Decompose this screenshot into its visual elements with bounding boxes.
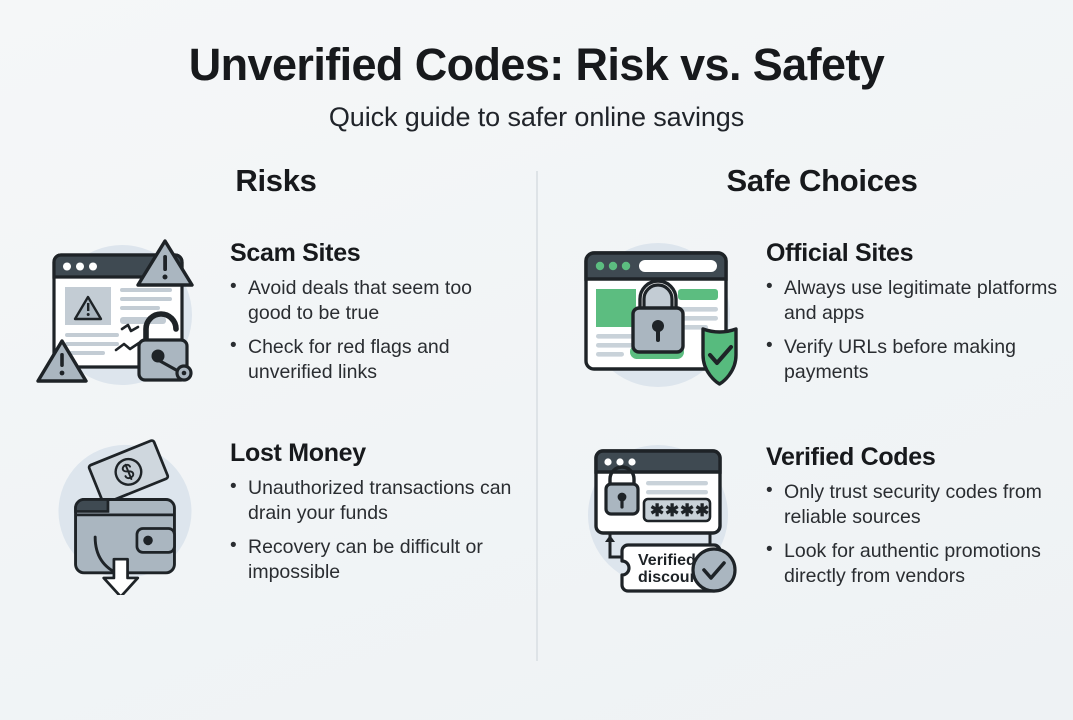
- list-item: Verify URLs before making payments: [766, 335, 1058, 385]
- header: Unverified Codes: Risk vs. Safety Quick …: [0, 0, 1073, 133]
- item-title-scam-sites: Scam Sites: [230, 239, 518, 268]
- list-item: Check for red flags and unverified links: [230, 335, 518, 385]
- column-risks: Risks: [0, 163, 536, 683]
- infographic-page: Unverified Codes: Risk vs. Safety Quick …: [0, 0, 1073, 720]
- item-scam-sites: Scam Sites Avoid deals that seem too goo…: [34, 233, 518, 395]
- list-item: Avoid deals that seem too good to be tru…: [230, 276, 518, 326]
- column-safe-choices: Safe Choices: [536, 163, 1072, 683]
- secure-browser-shield-icon: [570, 233, 752, 395]
- page-title: Unverified Codes: Risk vs. Safety: [0, 40, 1073, 90]
- item-body-scam-sites: Scam Sites Avoid deals that seem too goo…: [230, 233, 518, 394]
- list-item: Look for authentic promotions directly f…: [766, 539, 1058, 589]
- svg-text:✱: ✱: [680, 501, 694, 520]
- list-item: Unauthorized transactions can drain your…: [230, 476, 518, 526]
- columns-container: Risks: [0, 163, 1073, 683]
- item-lost-money: Lost Money Unauthorized transactions can…: [34, 433, 518, 595]
- item-body-verified-codes: Verified Codes Only trust security codes…: [766, 437, 1058, 598]
- list-item: Recovery can be difficult or impossible: [230, 535, 518, 585]
- bullet-list-verified-codes: Only trust security codes from reliable …: [766, 480, 1058, 589]
- column-heading-risks: Risks: [34, 163, 518, 199]
- item-body-official-sites: Official Sites Always use legitimate pla…: [766, 233, 1058, 394]
- item-title-verified-codes: Verified Codes: [766, 443, 1058, 472]
- bullet-list-official-sites: Always use legitimate platforms and apps…: [766, 276, 1058, 385]
- item-title-official-sites: Official Sites: [766, 239, 1058, 268]
- page-subtitle: Quick guide to safer online savings: [0, 102, 1073, 133]
- list-item: Only trust security codes from reliable …: [766, 480, 1058, 530]
- item-body-lost-money: Lost Money Unauthorized transactions can…: [230, 433, 518, 594]
- bullet-list-scam-sites: Avoid deals that seem too good to be tru…: [230, 276, 518, 385]
- scam-site-browser-warning-icon: [34, 233, 216, 395]
- svg-text:✱: ✱: [650, 501, 664, 520]
- item-official-sites: Official Sites Always use legitimate pla…: [570, 233, 1058, 395]
- verified-discount-coupon-icon: ✱✱ ✱✱ Verified discount: [570, 437, 752, 599]
- svg-text:✱: ✱: [665, 501, 679, 520]
- column-heading-safe-choices: Safe Choices: [570, 163, 1058, 199]
- coupon-line-1: Verified: [638, 552, 696, 569]
- svg-text:✱: ✱: [695, 501, 709, 520]
- bullet-list-lost-money: Unauthorized transactions can drain your…: [230, 476, 518, 585]
- list-item: Always use legitimate platforms and apps: [766, 276, 1058, 326]
- wallet-money-loss-icon: [34, 433, 216, 595]
- item-verified-codes: ✱✱ ✱✱ Verified discount: [570, 437, 1058, 599]
- item-title-lost-money: Lost Money: [230, 439, 518, 468]
- column-divider: [536, 171, 538, 661]
